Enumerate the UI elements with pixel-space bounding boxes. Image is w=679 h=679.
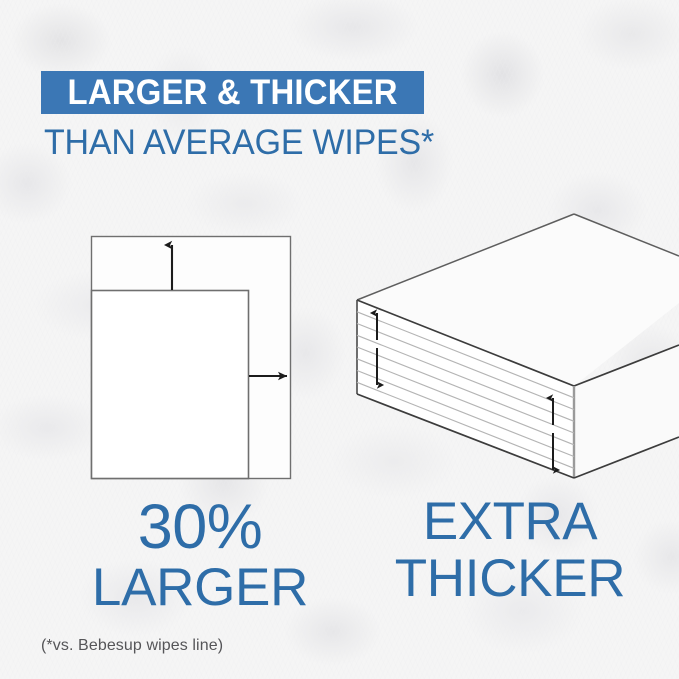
caption-larger-percent: 30% [40, 497, 360, 557]
average-wipe-rect [92, 291, 249, 479]
caption-larger-word: LARGER [40, 563, 360, 614]
footnote-text: (*vs. Bebesup wipes line) [41, 637, 223, 655]
caption-thicker: EXTRA THICKER [350, 497, 670, 605]
caption-thicker-extra: EXTRA [350, 497, 670, 548]
caption-larger: 30% LARGER [40, 497, 360, 614]
thickness-stack-diagram [357, 214, 679, 478]
infographic-canvas: LARGER & THICKER THAN AVERAGE WIPES* [0, 0, 679, 679]
size-comparison-diagram [92, 237, 291, 479]
caption-thicker-word: THICKER [350, 554, 670, 605]
